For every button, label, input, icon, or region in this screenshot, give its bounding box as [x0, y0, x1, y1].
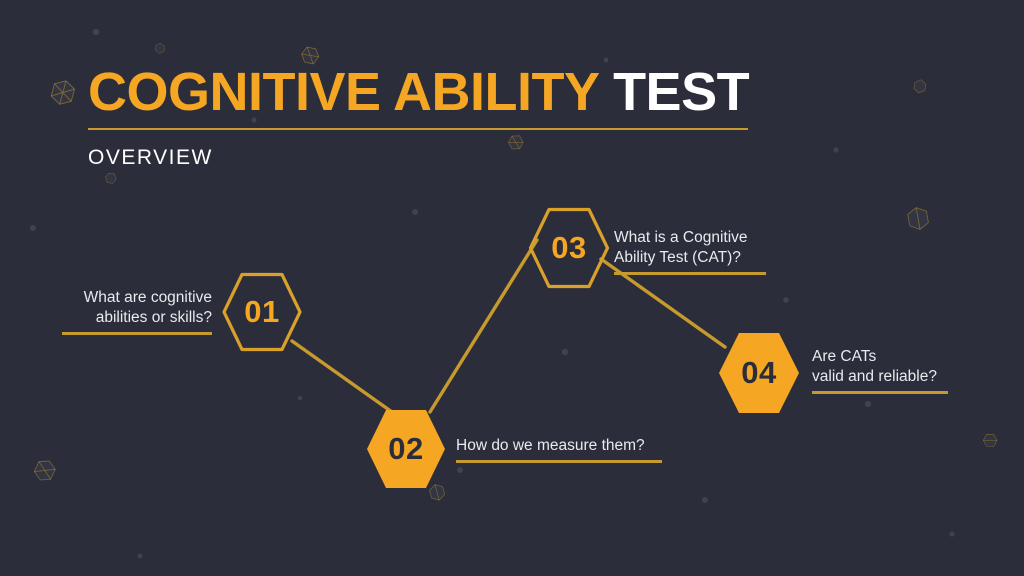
hexagon-outline-icon	[528, 207, 610, 289]
step-04-label-underline	[812, 391, 948, 394]
slide-canvas: COGNITIVE ABILITY TEST OVERVIEW 01 What …	[0, 0, 1024, 576]
step-03-label-line-2: Ability Test (CAT)?	[614, 248, 766, 268]
step-02-label-underline	[456, 460, 662, 463]
connector-01-02	[292, 341, 392, 412]
step-03-label-underline	[614, 272, 766, 275]
hexagon-filled-icon	[366, 409, 446, 489]
step-02-hexagon[interactable]: 02	[366, 409, 446, 489]
step-03-label-line-1: What is a Cognitive	[614, 228, 766, 248]
step-04-label: Are CATs valid and reliable?	[812, 347, 948, 394]
step-01-label-line-1: What are cognitive	[62, 288, 212, 308]
step-01-label-underline	[62, 332, 212, 335]
step-04-label-line-1: Are CATs	[812, 347, 948, 367]
step-03-label: What is a Cognitive Ability Test (CAT)?	[614, 228, 766, 275]
step-04-label-line-2: valid and reliable?	[812, 367, 948, 387]
step-01-label: What are cognitive abilities or skills?	[62, 288, 212, 335]
step-01-hexagon[interactable]: 01	[222, 272, 302, 352]
step-01-label-line-2: abilities or skills?	[62, 308, 212, 328]
step-02-label-line-1: How do we measure them?	[456, 436, 662, 456]
step-03-hexagon[interactable]: 03	[528, 207, 610, 289]
hexagon-filled-icon	[718, 332, 800, 414]
step-02-label: How do we measure them?	[456, 436, 662, 463]
step-04-hexagon[interactable]: 04	[718, 332, 800, 414]
connector-02-03	[430, 240, 537, 412]
hexagon-outline-icon	[222, 272, 302, 352]
